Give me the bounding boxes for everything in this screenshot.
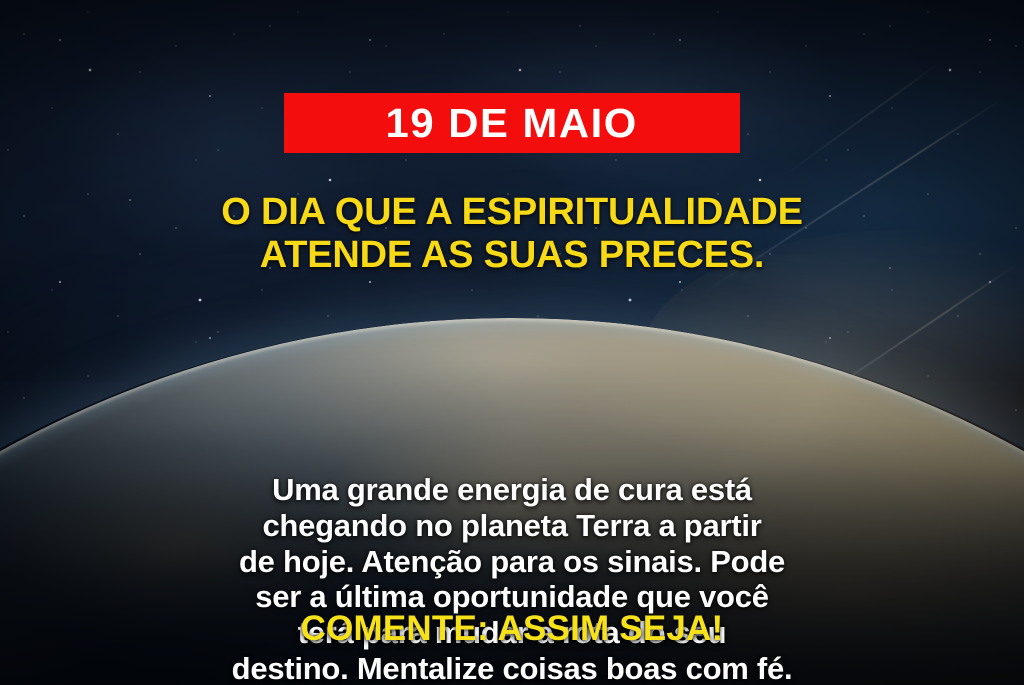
body-line-6: destino. Mentalize coisas boas com fé.: [40, 651, 984, 685]
poster-content: 19 DE MAIO O DIA QUE A ESPIRITUALIDADE A…: [0, 0, 1024, 685]
headline-line-2: ATENDE AS SUAS PRECES.: [48, 234, 976, 277]
page-title: O DIA QUE A ESPIRITUALIDADE ATENDE AS SU…: [0, 191, 1024, 277]
date-banner: 19 DE MAIO: [284, 93, 740, 153]
call-to-action-text: COMENTE: ASSIM SEJA!: [0, 611, 1024, 646]
body-line-3: de hoje. Atenção para os sinais. Pode: [40, 544, 984, 580]
body-line-1: Uma grande energia de cura está: [40, 472, 984, 508]
body-line-2: chegando no planeta Terra a partir: [40, 508, 984, 544]
date-banner-text: 19 DE MAIO: [386, 103, 638, 144]
body-paragraph: Uma grande energia de cura está chegando…: [0, 472, 1024, 685]
headline-line-1: O DIA QUE A ESPIRITUALIDADE: [48, 191, 976, 234]
social-media-poster: 19 DE MAIO O DIA QUE A ESPIRITUALIDADE A…: [0, 0, 1024, 685]
